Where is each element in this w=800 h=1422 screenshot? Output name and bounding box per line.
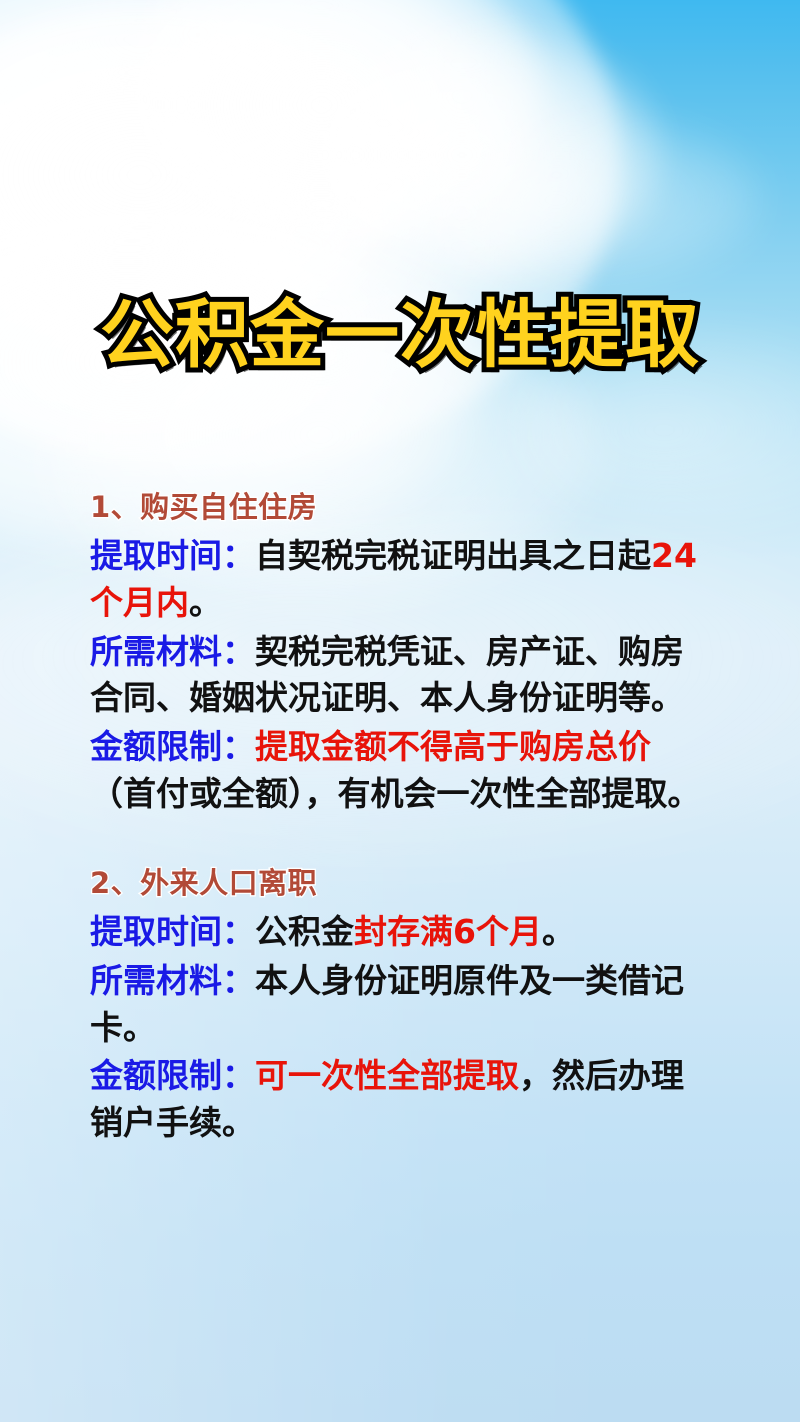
body-text: （首付或全额），有机会一次性全部提取。 [90,774,701,813]
content-section: 2、外来人口离职提取时间：公积金封存满6个月。所需材料：本人身份证明原件及一类借… [90,864,710,1147]
field-label: 提取时间： [90,912,255,951]
section-line: 金额限制：可一次性全部提取，然后办理销户手续。 [90,1053,710,1147]
body-text: 。 [189,583,222,622]
title-container: 公积金一次性提取 [0,296,800,374]
highlight-text: 可一次性全部提取 [255,1056,519,1095]
section-line: 提取时间：公积金封存满6个月。 [90,909,710,956]
body-text: 自契税完税证明出具之日起 [255,536,651,575]
section-heading: 2、外来人口离职 [90,864,710,903]
body-text: 。 [542,912,575,951]
section-line: 金额限制：提取金额不得高于购房总价（首付或全额），有机会一次性全部提取。 [90,724,710,818]
page-title: 公积金一次性提取 [100,296,700,374]
field-label: 金额限制： [90,1056,255,1095]
highlight-text: 封存满6个月 [354,912,542,951]
field-label: 提取时间： [90,536,255,575]
section-line: 所需材料：本人身份证明原件及一类借记卡。 [90,958,710,1052]
field-label: 所需材料： [90,632,255,671]
content-section: 1、购买自住住房提取时间：自契税完税证明出具之日起24个月内。所需材料：契税完税… [90,488,710,818]
body-text-block: 1、购买自住住房提取时间：自契税完税证明出具之日起24个月内。所需材料：契税完税… [90,488,710,1149]
poster-root: 公积金一次性提取 1、购买自住住房提取时间：自契税完税证明出具之日起24个月内。… [0,0,800,1422]
body-text: 公积金 [255,912,354,951]
field-label: 金额限制： [90,727,255,766]
field-label: 所需材料： [90,961,255,1000]
poster-content: 公积金一次性提取 1、购买自住住房提取时间：自契税完税证明出具之日起24个月内。… [0,0,800,1422]
section-heading: 1、购买自住住房 [90,488,710,527]
section-line: 所需材料：契税完税凭证、房产证、购房合同、婚姻状况证明、本人身份证明等。 [90,629,710,723]
section-line: 提取时间：自契税完税证明出具之日起24个月内。 [90,533,710,627]
highlight-text: 提取金额不得高于购房总价 [255,727,651,766]
